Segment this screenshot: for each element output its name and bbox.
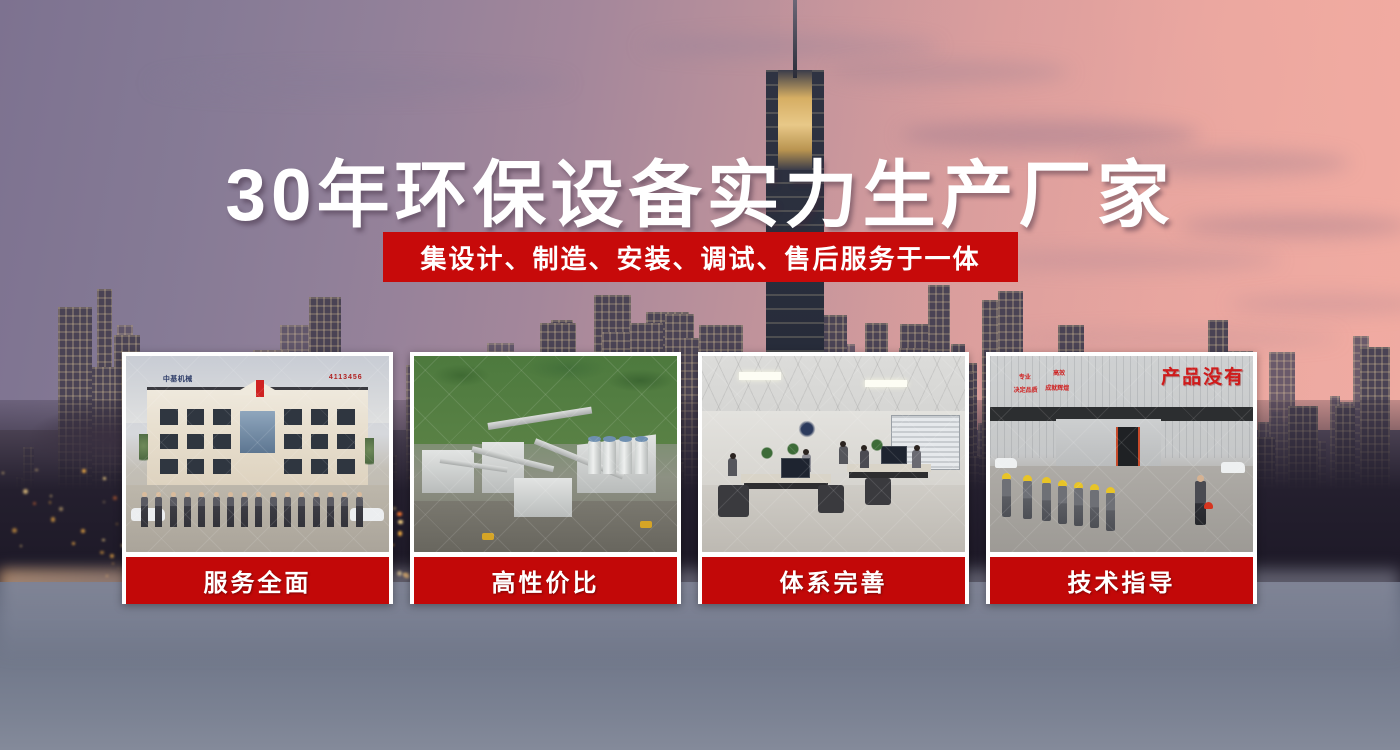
staff-figure [241, 497, 248, 527]
city-light [102, 539, 104, 541]
staff-figure [213, 497, 220, 527]
city-light [20, 545, 22, 547]
factory-slogan: 专业 [1019, 372, 1031, 381]
card-caption: 体系完善 [702, 557, 965, 604]
city-light [35, 469, 38, 472]
city-light [82, 469, 86, 473]
staff-figure [227, 497, 234, 527]
skyscraper-antenna-spire [793, 0, 797, 78]
feature-card[interactable]: 体系完善 [698, 352, 969, 604]
city-light [51, 517, 56, 522]
card-caption: 技术指导 [990, 557, 1253, 604]
feature-card[interactable]: 中基机械 4113456 服务全面 [122, 352, 393, 604]
promo-banner: 30年环保设备实力生产厂家 集设计、制造、安装、调试、售后服务于一体 [0, 0, 1400, 750]
worker-figure [1002, 479, 1011, 517]
worker-figure [1023, 481, 1032, 519]
cloud [640, 35, 940, 57]
worker-figure [1106, 493, 1115, 531]
worker-figure [1090, 490, 1099, 528]
card-caption: 高性价比 [414, 557, 677, 604]
card-photo-headquarters: 中基机械 4113456 [126, 356, 389, 552]
city-light [100, 551, 104, 555]
factory-sign-text: 产品没有 [1161, 362, 1245, 389]
worker-figure [1042, 483, 1051, 521]
staff-figure [184, 497, 191, 527]
city-light [113, 496, 117, 500]
staff-figure [313, 497, 320, 527]
card-photo-office-interior [702, 356, 965, 552]
city-light [112, 563, 114, 565]
factory-slogan: 高效 [1053, 368, 1065, 377]
feature-card-list: 中基机械 4113456 服务全面 [122, 352, 1282, 604]
city-light [12, 528, 17, 533]
staff-figure [356, 497, 363, 527]
city-light [81, 529, 85, 533]
staff-figure [270, 497, 277, 527]
card-photo-workers-lineup: 产品没有 专业 决定品质 高效 成就辉煌 [990, 356, 1253, 552]
cloud [830, 60, 1070, 84]
city-light [110, 554, 114, 558]
feature-card[interactable]: 高性价比 [410, 352, 681, 604]
worker-figure [1074, 488, 1083, 526]
city-light [50, 495, 52, 497]
staff-figure [298, 497, 305, 527]
staff-figure [170, 497, 177, 527]
staff-figure [155, 497, 162, 527]
card-caption: 服务全面 [126, 557, 389, 604]
subtitle-banner: 集设计、制造、安装、调试、售后服务于一体 [383, 232, 1018, 282]
factory-slogan: 成就辉煌 [1045, 383, 1069, 392]
staff-figure [198, 497, 205, 527]
page-title: 30年环保设备实力生产厂家 [0, 136, 1400, 242]
city-light [103, 477, 106, 480]
factory-slogan: 决定品质 [1014, 385, 1038, 394]
cloud [150, 70, 570, 96]
city-light [59, 507, 62, 510]
staff-figure [141, 497, 148, 527]
city-light [72, 542, 75, 545]
city-light [23, 489, 28, 494]
city-light [2, 472, 4, 474]
staff-figure [255, 497, 262, 527]
city-light [33, 502, 37, 506]
subtitle-text: 集设计、制造、安装、调试、售后服务于一体 [420, 239, 980, 276]
feature-card[interactable]: 产品没有 专业 决定品质 高效 成就辉煌 技术指导 [986, 352, 1257, 604]
worker-figure [1058, 486, 1067, 524]
city-light [103, 501, 105, 503]
card-photo-industrial-plant [414, 356, 677, 552]
staff-figure [284, 497, 291, 527]
building-phone-text: 4113456 [329, 374, 363, 381]
building-sign-text: 中基机械 [163, 374, 193, 384]
cloud [980, 250, 1280, 270]
city-light [116, 523, 118, 525]
staff-figure [341, 497, 348, 527]
city-light [49, 501, 51, 503]
staff-figure [327, 497, 334, 527]
red-helmet-icon [1204, 502, 1213, 509]
